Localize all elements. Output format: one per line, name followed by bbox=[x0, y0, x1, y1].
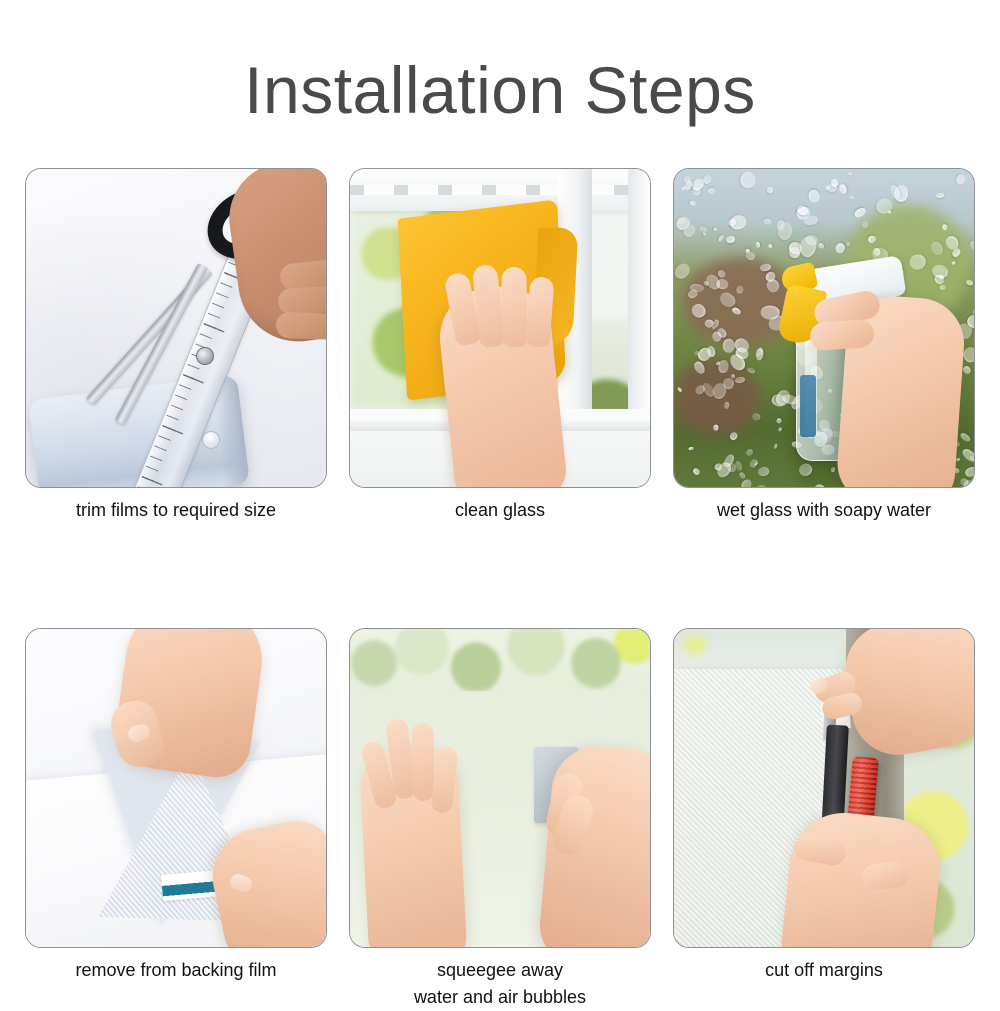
step-caption-4: remove from backing film bbox=[25, 957, 327, 984]
window-frame-top bbox=[350, 169, 650, 211]
page-title: Installation Steps bbox=[0, 52, 1000, 128]
step-cell-1: trim films to required size bbox=[25, 168, 327, 524]
step-image-trim-films bbox=[25, 168, 327, 488]
step-caption-6: cut off margins bbox=[673, 957, 975, 984]
finger-icon bbox=[411, 723, 434, 801]
foliage-icon bbox=[350, 629, 650, 691]
step-image-cut-margins bbox=[673, 628, 975, 948]
steps-row-1: trim films to required size clean glass bbox=[25, 168, 975, 524]
step-caption-2: clean glass bbox=[349, 497, 651, 524]
finger-icon bbox=[277, 285, 327, 315]
finger-icon bbox=[501, 267, 527, 347]
step-image-squeegee bbox=[349, 628, 651, 948]
step-cell-2: clean glass bbox=[349, 168, 651, 524]
step-cell-3: wet glass with soapy water bbox=[673, 168, 975, 524]
steps-row-2: remove from backing film squeegee away w… bbox=[25, 628, 975, 1011]
bottle-label bbox=[800, 375, 816, 437]
finger-icon bbox=[809, 319, 875, 351]
installation-steps-grid: trim films to required size clean glass bbox=[25, 168, 975, 1011]
finger-icon bbox=[526, 276, 555, 348]
step-image-remove-backing bbox=[25, 628, 327, 948]
step-caption-1: trim films to required size bbox=[25, 497, 327, 524]
step-caption-3: wet glass with soapy water bbox=[673, 497, 975, 524]
step-image-clean-glass bbox=[349, 168, 651, 488]
step-image-wet-glass bbox=[673, 168, 975, 488]
finger-icon bbox=[276, 312, 327, 340]
step-cell-6: cut off margins bbox=[673, 628, 975, 1011]
scissor-pivot-icon bbox=[196, 347, 214, 365]
step-cell-5: squeegee away water and air bubbles bbox=[349, 628, 651, 1011]
step-caption-5: squeegee away water and air bubbles bbox=[349, 957, 651, 1011]
step-cell-4: remove from backing film bbox=[25, 628, 327, 1011]
